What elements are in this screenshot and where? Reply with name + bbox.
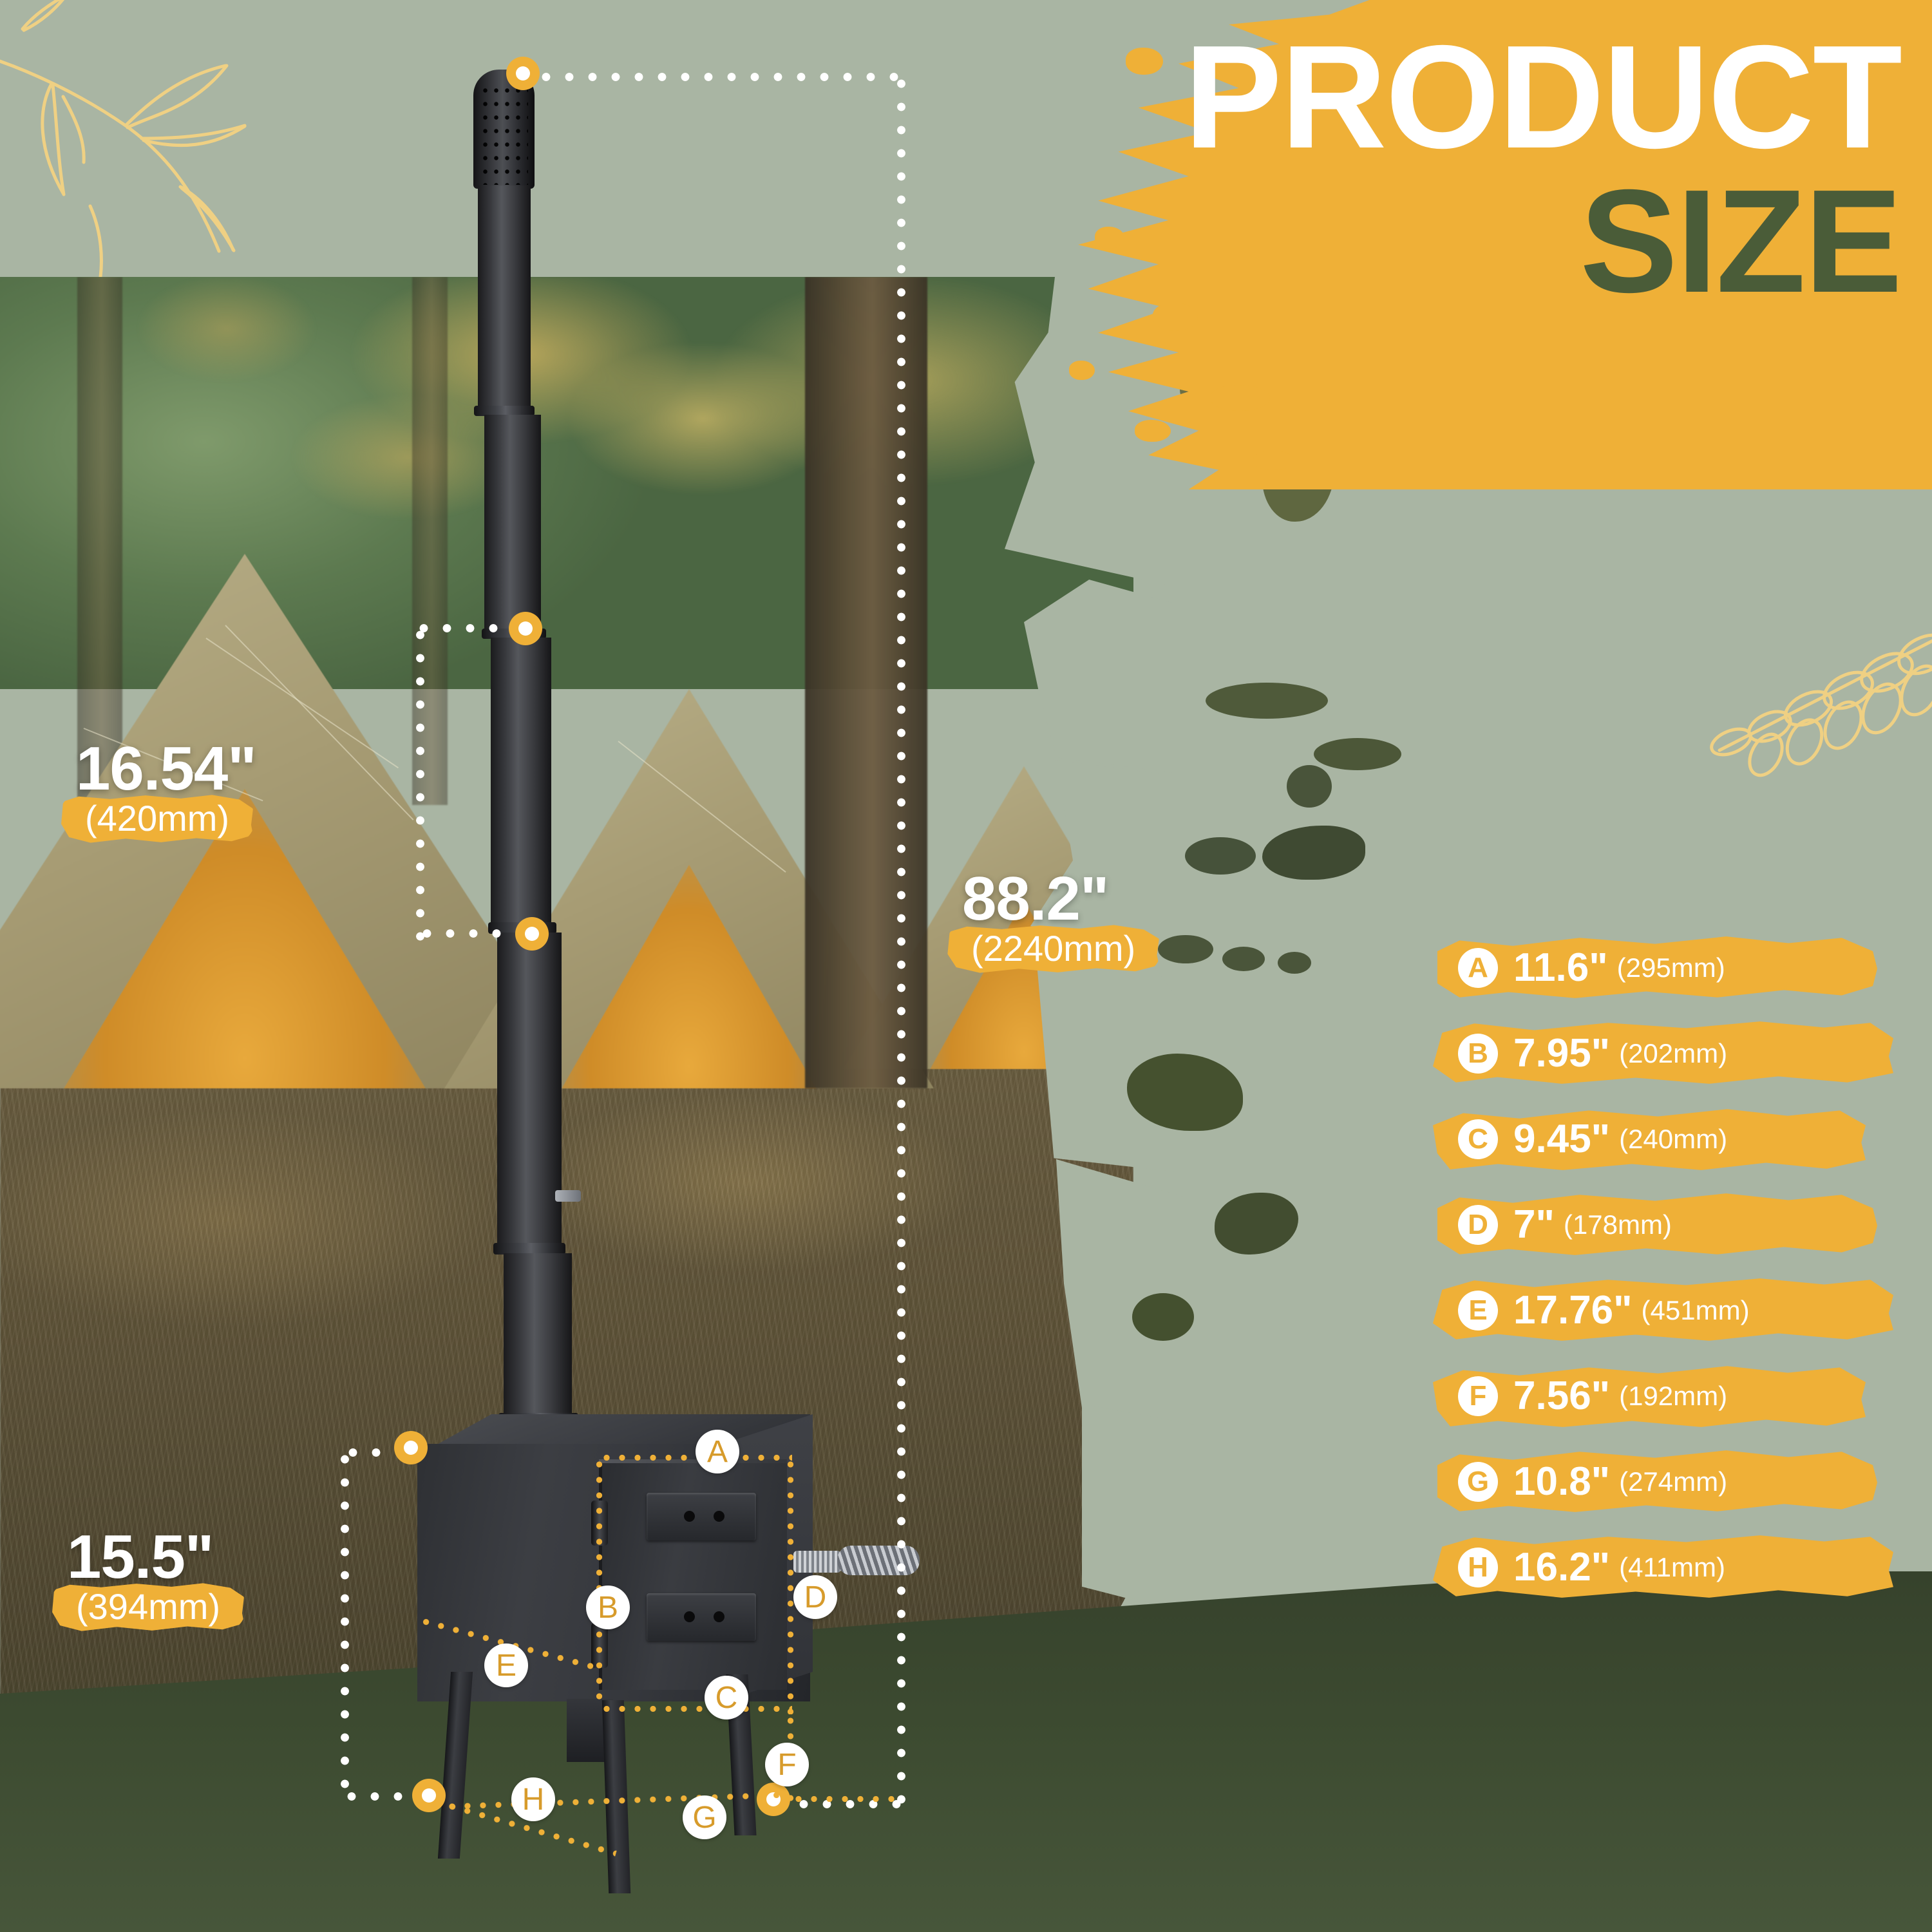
spec-letter-badge: B — [1458, 1034, 1498, 1074]
outline-base-right — [791, 1795, 900, 1803]
anchor-stove-bottom-left — [412, 1779, 446, 1812]
callout-badge-c: C — [705, 1676, 748, 1719]
spark-arrestor-holes — [480, 84, 528, 185]
callout-badge-h: H — [511, 1777, 555, 1821]
dimension-label-total-height: 88.2" (2240mm) — [962, 868, 1144, 976]
spec-letter-badge: H — [1458, 1548, 1498, 1587]
chimney-pipe-lower — [504, 1253, 572, 1422]
spec-letter-badge: A — [1458, 948, 1498, 988]
callout-badge-d: D — [793, 1575, 837, 1619]
spec-mm-value: (202mm) — [1619, 1038, 1727, 1069]
spec-mm-value: (451mm) — [1642, 1295, 1750, 1326]
callout-badge-f: F — [765, 1743, 809, 1786]
spec-mm-value: (411mm) — [1619, 1552, 1725, 1583]
callout-badge-e: E — [484, 1643, 528, 1687]
spec-row-a: A 11.6" (295mm) — [1462, 925, 1913, 1010]
spring-handle[interactable] — [837, 1546, 920, 1575]
spec-mm-value: (240mm) — [1619, 1124, 1727, 1155]
spec-inch-value: 9.45" — [1513, 1116, 1610, 1162]
anchor-stove-top-left — [394, 1431, 428, 1464]
spec-inch-value: 17.76" — [1513, 1287, 1633, 1333]
spec-letter-badge: F — [1458, 1376, 1498, 1416]
outline-e-corner — [416, 1618, 424, 1625]
chimney-pipe-lower-upper — [497, 933, 562, 1248]
guide-stove-height-bottom — [340, 1792, 424, 1801]
guide-chimney-vertical — [415, 623, 425, 945]
dimension-label-stove-height: 15.5" (394mm) — [67, 1526, 229, 1634]
spec-mm-value: (295mm) — [1617, 952, 1725, 983]
callout-badge-g: G — [683, 1795, 726, 1839]
guide-total-height-vertical — [896, 72, 906, 1804]
damper-handle — [555, 1190, 581, 1202]
spec-row-f: F 7.56" (192mm) — [1462, 1353, 1913, 1439]
door-vent-upper[interactable] — [647, 1493, 756, 1540]
spec-letter-badge: G — [1458, 1462, 1498, 1502]
spec-letter-badge: D — [1458, 1205, 1498, 1245]
spec-row-c: C 9.45" (240mm) — [1462, 1096, 1913, 1182]
spec-row-h: H 16.2" (411mm) — [1462, 1524, 1913, 1610]
callout-badge-a: A — [696, 1430, 739, 1473]
door-vent-lower[interactable] — [647, 1593, 756, 1641]
spec-inch-value: 16.2" — [1513, 1544, 1610, 1590]
spec-letter-badge: C — [1458, 1119, 1498, 1159]
spec-row-b: B 7.95" (202mm) — [1462, 1010, 1913, 1096]
guide-stove-height-vertical — [340, 1448, 350, 1795]
spec-row-d: D 7" (178mm) — [1462, 1182, 1913, 1267]
specification-list: A 11.6" (295mm) B 7.95" (202mm) C 9.45" … — [1462, 925, 1913, 1610]
spec-inch-value: 7" — [1513, 1202, 1555, 1247]
spec-row-g: G 10.8" (274mm) — [1462, 1439, 1913, 1524]
dimension-label-chimney: 16.54" (420mm) — [76, 738, 256, 846]
callout-badge-b: B — [586, 1586, 630, 1629]
guide-total-height-top — [535, 72, 902, 82]
spec-mm-value: (192mm) — [1619, 1381, 1727, 1412]
anchor-chimney-top — [506, 57, 540, 90]
spec-inch-value: 11.6" — [1513, 945, 1608, 990]
anchor-chimney-section-top — [509, 612, 542, 645]
spec-mm-value: (178mm) — [1564, 1209, 1672, 1240]
spec-inch-value: 10.8" — [1513, 1459, 1610, 1504]
spec-inch-value: 7.95" — [1513, 1030, 1610, 1076]
anchor-chimney-section-bottom — [515, 917, 549, 951]
spec-row-e: E 17.76" (451mm) — [1462, 1267, 1913, 1353]
spec-letter-badge: E — [1458, 1291, 1498, 1331]
outline-right — [787, 1457, 794, 1714]
chimney-pipe-mid — [491, 638, 551, 927]
spec-mm-value: (274mm) — [1619, 1466, 1727, 1497]
infographic-canvas: PRODUCT SIZE — [0, 0, 1932, 1932]
door-latch-knob[interactable] — [793, 1551, 841, 1573]
chimney-pipe-mid-upper — [484, 415, 541, 634]
anchor-stove-bottom-right — [757, 1783, 790, 1816]
chimney-pipe-upper — [478, 185, 531, 411]
dimension-mm-value: (420mm) — [76, 791, 238, 846]
dimension-mm-value: (394mm) — [67, 1579, 229, 1634]
outline-c-bottom — [599, 1705, 792, 1712]
dimension-mm-value: (2240mm) — [962, 921, 1144, 976]
spec-inch-value: 7.56" — [1513, 1373, 1610, 1419]
